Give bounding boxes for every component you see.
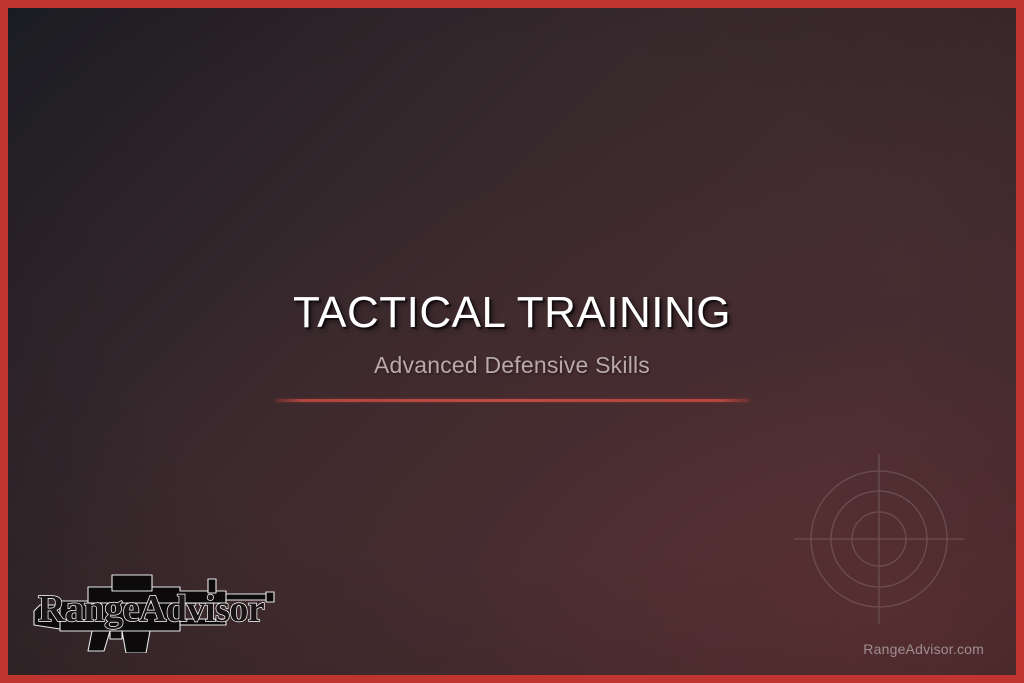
slide-subtitle: Advanced Defensive Skills <box>8 352 1016 379</box>
slide-title: TACTICAL TRAINING <box>8 290 1016 336</box>
crosshair-target-icon <box>794 454 964 624</box>
title-block: TACTICAL TRAINING Advanced Defensive Ski… <box>8 290 1016 402</box>
slide-frame: TACTICAL TRAINING Advanced Defensive Ski… <box>0 0 1024 683</box>
slide-canvas: TACTICAL TRAINING Advanced Defensive Ski… <box>8 8 1016 675</box>
title-divider <box>275 399 750 402</box>
logo-wordmark: RangeAdvisor <box>38 588 265 630</box>
footer-url: RangeAdvisor.com <box>863 641 984 657</box>
brand-logo: RangeAdvisor <box>30 561 278 653</box>
